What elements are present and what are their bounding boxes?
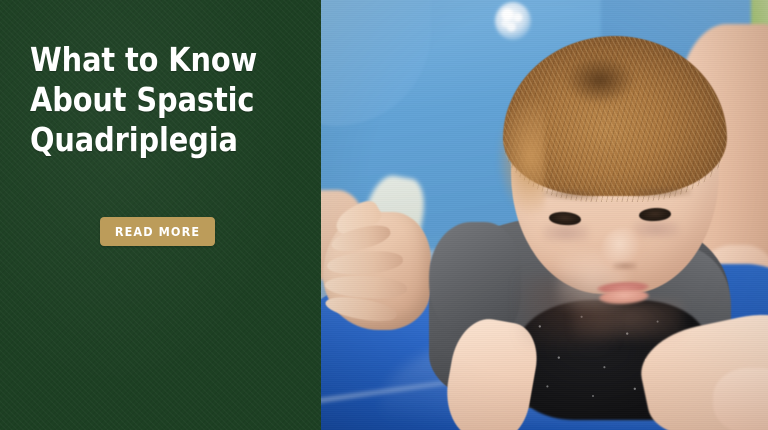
page-title: What to Know About Spastic Quadriplegia [30, 40, 268, 160]
title-line-2: About Spastic [30, 80, 254, 119]
hero-photo [321, 0, 768, 430]
child-hand [713, 368, 768, 430]
child-nostril [613, 262, 637, 270]
child-hair-edge [497, 96, 545, 216]
photo-stage [321, 0, 768, 430]
green-text-panel: What to Know About Spastic Quadriplegia … [0, 0, 321, 430]
title-line-1: What to Know [30, 40, 257, 79]
child-eye-shadow-left [543, 224, 589, 242]
child-chin-shadow [573, 300, 683, 340]
blog-promo-card: What to Know About Spastic Quadriplegia … [0, 0, 768, 430]
child-hair-shadow [565, 56, 635, 104]
title-line-3: Quadriplegia [30, 120, 238, 159]
read-more-button[interactable]: READ MORE [100, 217, 215, 246]
sparkle-facets [499, 6, 527, 36]
panel-content: What to Know About Spastic Quadriplegia … [0, 0, 321, 246]
